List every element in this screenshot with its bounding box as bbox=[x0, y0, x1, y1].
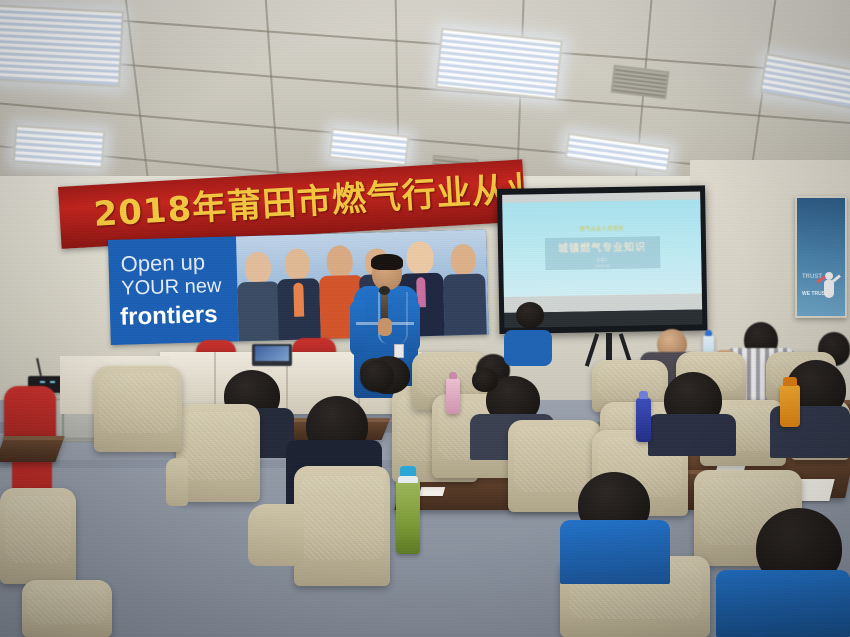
attendee-uniform-blue bbox=[716, 570, 850, 637]
poster-slogan-block: Open up YOUR new frontiers bbox=[108, 236, 239, 345]
ceiling-light-panel bbox=[435, 28, 563, 100]
pink-bottle bbox=[446, 378, 460, 414]
attendee-uniform-blue bbox=[560, 520, 670, 584]
paper-sheet bbox=[419, 487, 446, 496]
attendee-head bbox=[516, 302, 544, 328]
chair bbox=[22, 580, 112, 637]
presenter-hand bbox=[378, 318, 392, 336]
blue-bottle bbox=[636, 398, 651, 442]
ceiling-light-panel bbox=[565, 133, 672, 173]
green-bottle bbox=[396, 480, 420, 554]
chair-arm bbox=[248, 504, 304, 566]
chair bbox=[0, 488, 76, 584]
wall-poster-line-1: TRUST bbox=[802, 274, 822, 280]
poster-line-2-rest: new bbox=[179, 275, 222, 298]
attendee-torso bbox=[648, 414, 736, 456]
poster-figure-silhouette bbox=[821, 272, 837, 306]
presentation-slide: 燃气从业人员培训 城镇燃气专业知识 主讲人 2018.08 bbox=[502, 199, 702, 296]
screen-tripod-post bbox=[606, 333, 612, 361]
poster-line-3: frontiers bbox=[120, 301, 218, 332]
chair bbox=[176, 404, 260, 502]
poster-line-2: YOUR new bbox=[121, 275, 222, 301]
laptop bbox=[252, 344, 292, 366]
chair-arm bbox=[166, 458, 188, 506]
projector-screen-surface: 燃气从业人员培训 城镇燃气专业知识 主讲人 2018.08 bbox=[502, 191, 702, 312]
attendee-head bbox=[472, 368, 498, 392]
ceiling-light-panel bbox=[759, 53, 850, 110]
poster-line-1: Open up bbox=[120, 249, 205, 277]
wall-poster-line-2: WE TRUST bbox=[802, 291, 828, 298]
classroom-photo: 2018年莆田市燃气行业从业人员培训班 Open up YOUR new fro… bbox=[0, 0, 850, 637]
slide-title-text: 城镇燃气专业知识 bbox=[503, 237, 701, 255]
ceiling-light-panel bbox=[13, 125, 105, 169]
microphone-head bbox=[379, 286, 390, 295]
motivational-wall-poster: TRUST WE TRUST bbox=[795, 196, 847, 318]
presenter-left-arm bbox=[350, 300, 366, 356]
ceiling-light-panel bbox=[0, 5, 124, 88]
chair bbox=[294, 466, 390, 586]
slide-header-text: 燃气从业人员培训 bbox=[503, 223, 701, 233]
air-vent bbox=[611, 65, 670, 100]
attendee-head bbox=[360, 360, 394, 392]
attendee-torso-blue bbox=[504, 330, 552, 366]
laptop-screen bbox=[255, 346, 289, 361]
presenter-hair bbox=[371, 254, 403, 270]
wall-advert-poster: Open up YOUR new frontiers bbox=[108, 229, 489, 345]
table bbox=[0, 436, 65, 462]
chair bbox=[94, 366, 182, 452]
poster-line-2-accent: YOUR bbox=[121, 276, 179, 300]
